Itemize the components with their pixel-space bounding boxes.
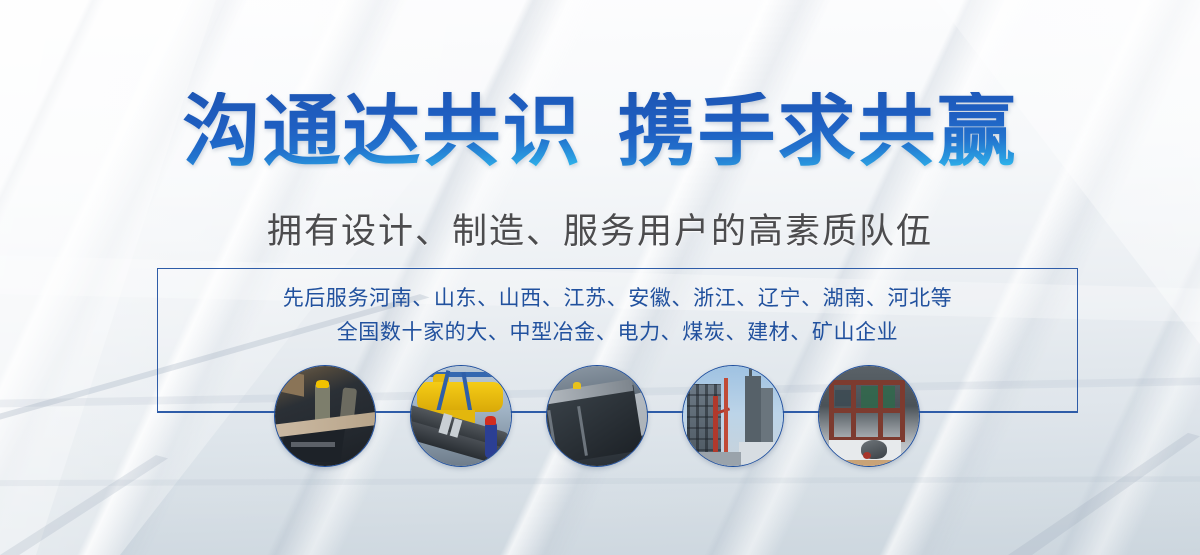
photo-steel-duct-section[interactable]	[546, 365, 648, 467]
photo-worker-steel-lining[interactable]	[274, 365, 376, 467]
photo-steel-duct-section-image	[547, 366, 647, 466]
photo-workshop-red-frames-image	[819, 366, 919, 466]
photo-workshop-red-frames[interactable]	[818, 365, 920, 467]
promo-banner: 沟通达共识 携手求共赢 拥有设计、制造、服务用户的高素质队伍 先后服务河南、山东…	[0, 0, 1200, 555]
photo-construction-steel-frame[interactable]	[682, 365, 784, 467]
photo-worker-steel-lining-image	[275, 366, 375, 466]
photo-circle-row	[0, 0, 1200, 555]
photo-yellow-machinery-pipes-image	[411, 366, 511, 466]
photo-construction-steel-frame-image	[683, 366, 783, 466]
photo-yellow-machinery-pipes[interactable]	[410, 365, 512, 467]
